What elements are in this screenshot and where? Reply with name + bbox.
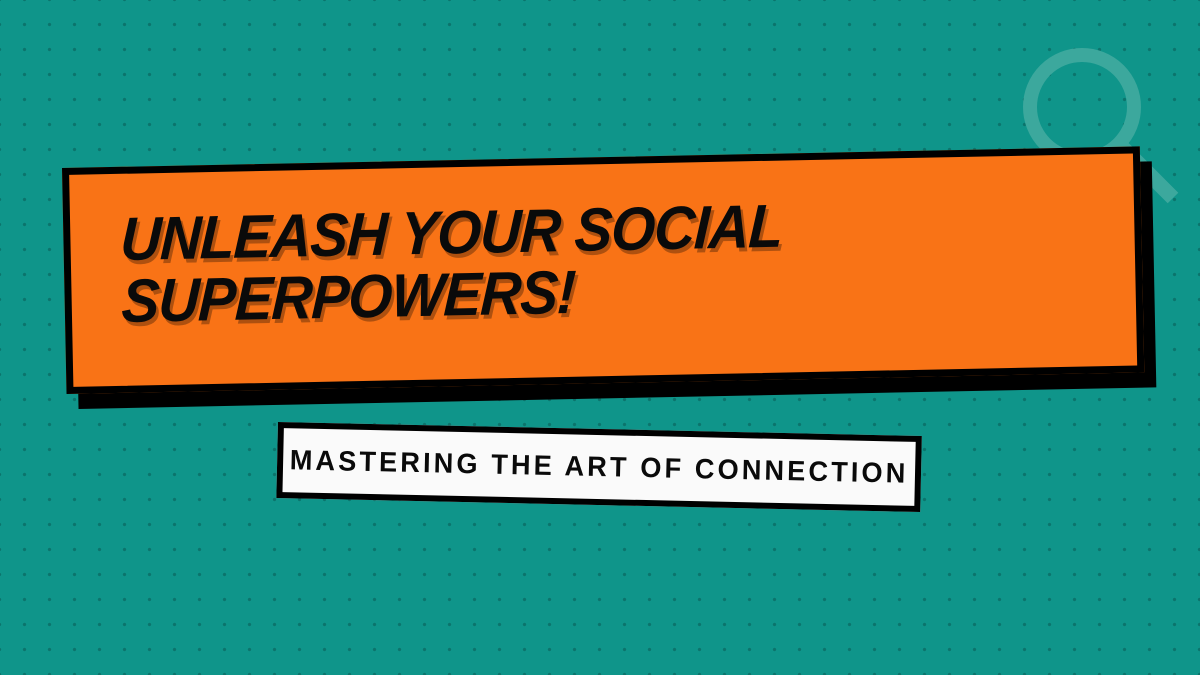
subtitle-text: MASTERING THE ART OF CONNECTION (286, 422, 912, 512)
page-title: UNLEASH YOUR SOCIAL SUPERPOWERS! (120, 188, 1102, 332)
title-banner: UNLEASH YOUR SOCIAL SUPERPOWERS! (62, 168, 1140, 394)
subtitle-banner: MASTERING THE ART OF CONNECTION (276, 422, 922, 512)
title-slide: UNLEASH YOUR SOCIAL SUPERPOWERS! MASTERI… (0, 0, 1200, 675)
